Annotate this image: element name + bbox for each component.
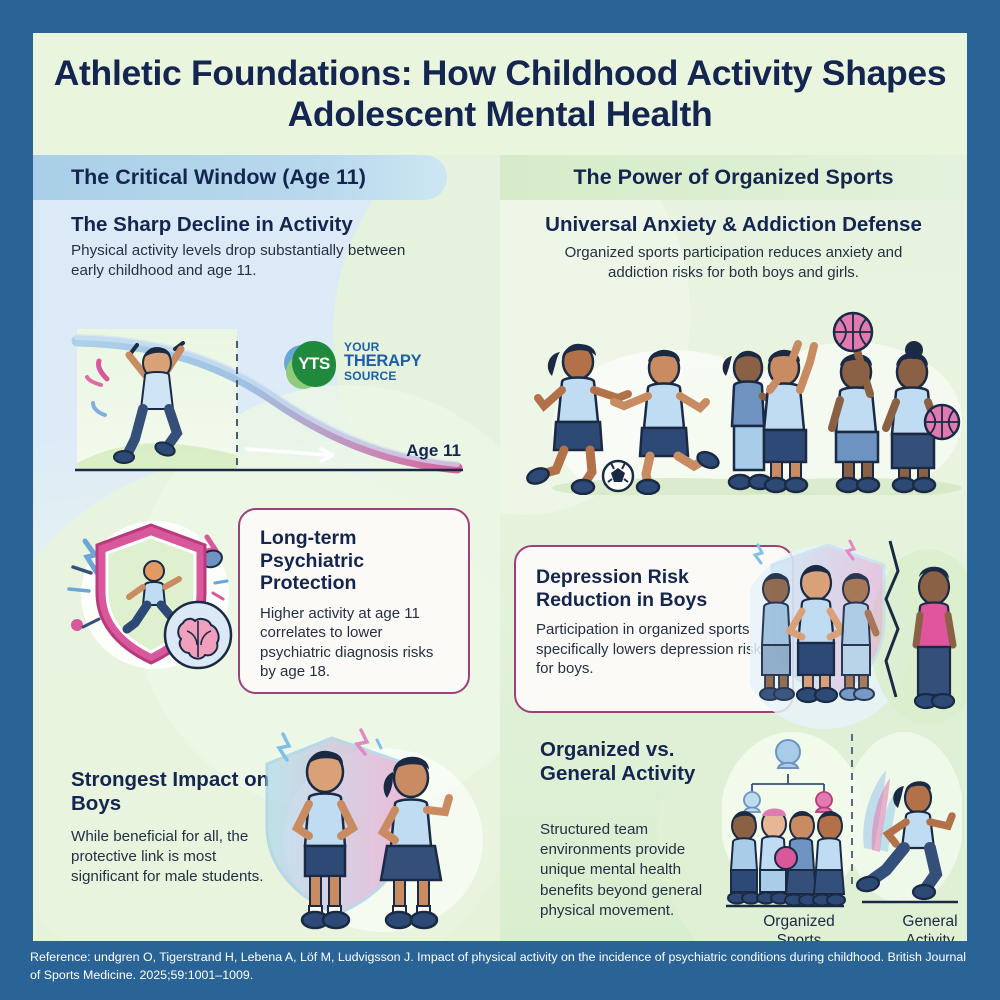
right-block3-heading: Organized vs. General Activity (540, 738, 730, 786)
right-block3-body: Structured team environments provide uni… (540, 820, 730, 921)
yts-logo-wordmark: YOUR THERAPY SOURCE (344, 341, 421, 382)
right-block1-heading: Universal Anxiety & Addiction Defense (500, 213, 967, 237)
compare-label-organized-sports: Organized Sports (744, 913, 854, 941)
page-title: Athletic Foundations: How Childhood Acti… (50, 53, 950, 135)
team-vs-isolated-boy-icon (750, 537, 967, 732)
right-section-header-label: The Power of Organized Sports (573, 165, 893, 190)
reference-text: Reference: undgren O, Tigerstrand H, Leb… (30, 950, 966, 982)
right-column: The Power of Organized Sports Universal … (500, 155, 967, 941)
organized-vs-general-icon (722, 730, 962, 910)
infographic-poster: Athletic Foundations: How Childhood Acti… (0, 0, 1000, 1000)
chart-age-label: Age 11 (406, 441, 461, 461)
card-heading: Depression Risk Reduction in Boys (536, 566, 776, 611)
yts-logo-mark-icon: YTS (284, 339, 342, 393)
card-heading: Long-term Psychiatric Protection (260, 527, 450, 595)
logo-line-2: THERAPY (344, 353, 421, 370)
right-section-header: The Power of Organized Sports (500, 155, 967, 200)
compare-label-general-activity: General Activity (880, 913, 967, 941)
right-block1-body: Organized sports participation reduces a… (500, 243, 967, 283)
left-block1-heading: The Sharp Decline in Activity (71, 213, 471, 237)
left-section-header: The Critical Window (Age 11) (33, 155, 447, 200)
card-long-term-psychiatric-protection: Long-term Psychiatric Protection Higher … (238, 508, 470, 694)
card-body: Participation in organized sports specif… (536, 620, 776, 679)
card-body: Higher activity at age 11 correlates to … (260, 604, 450, 682)
shield-runner-brain-icon (55, 507, 245, 687)
reference-footer: Reference: undgren O, Tigerstrand H, Leb… (0, 940, 1000, 1000)
poster-canvas: Athletic Foundations: How Childhood Acti… (33, 33, 967, 941)
sports-players-icon (522, 310, 962, 495)
left-section-header-label: The Critical Window (Age 11) (71, 165, 366, 190)
left-block3-body: While beneficial for all, the protective… (71, 827, 271, 888)
logo-line-3: SOURCE (344, 370, 421, 382)
yts-logo-monogram: YTS (292, 341, 336, 387)
title-band: Athletic Foundations: How Childhood Acti… (33, 33, 967, 155)
yts-logo: YTS YOUR THERAPY SOURCE (284, 337, 444, 395)
left-block1-body: Physical activity levels drop substantia… (71, 241, 421, 281)
left-column: The Critical Window (Age 11) The Sharp D… (33, 155, 500, 941)
boy-girl-shield-icon (253, 720, 483, 935)
